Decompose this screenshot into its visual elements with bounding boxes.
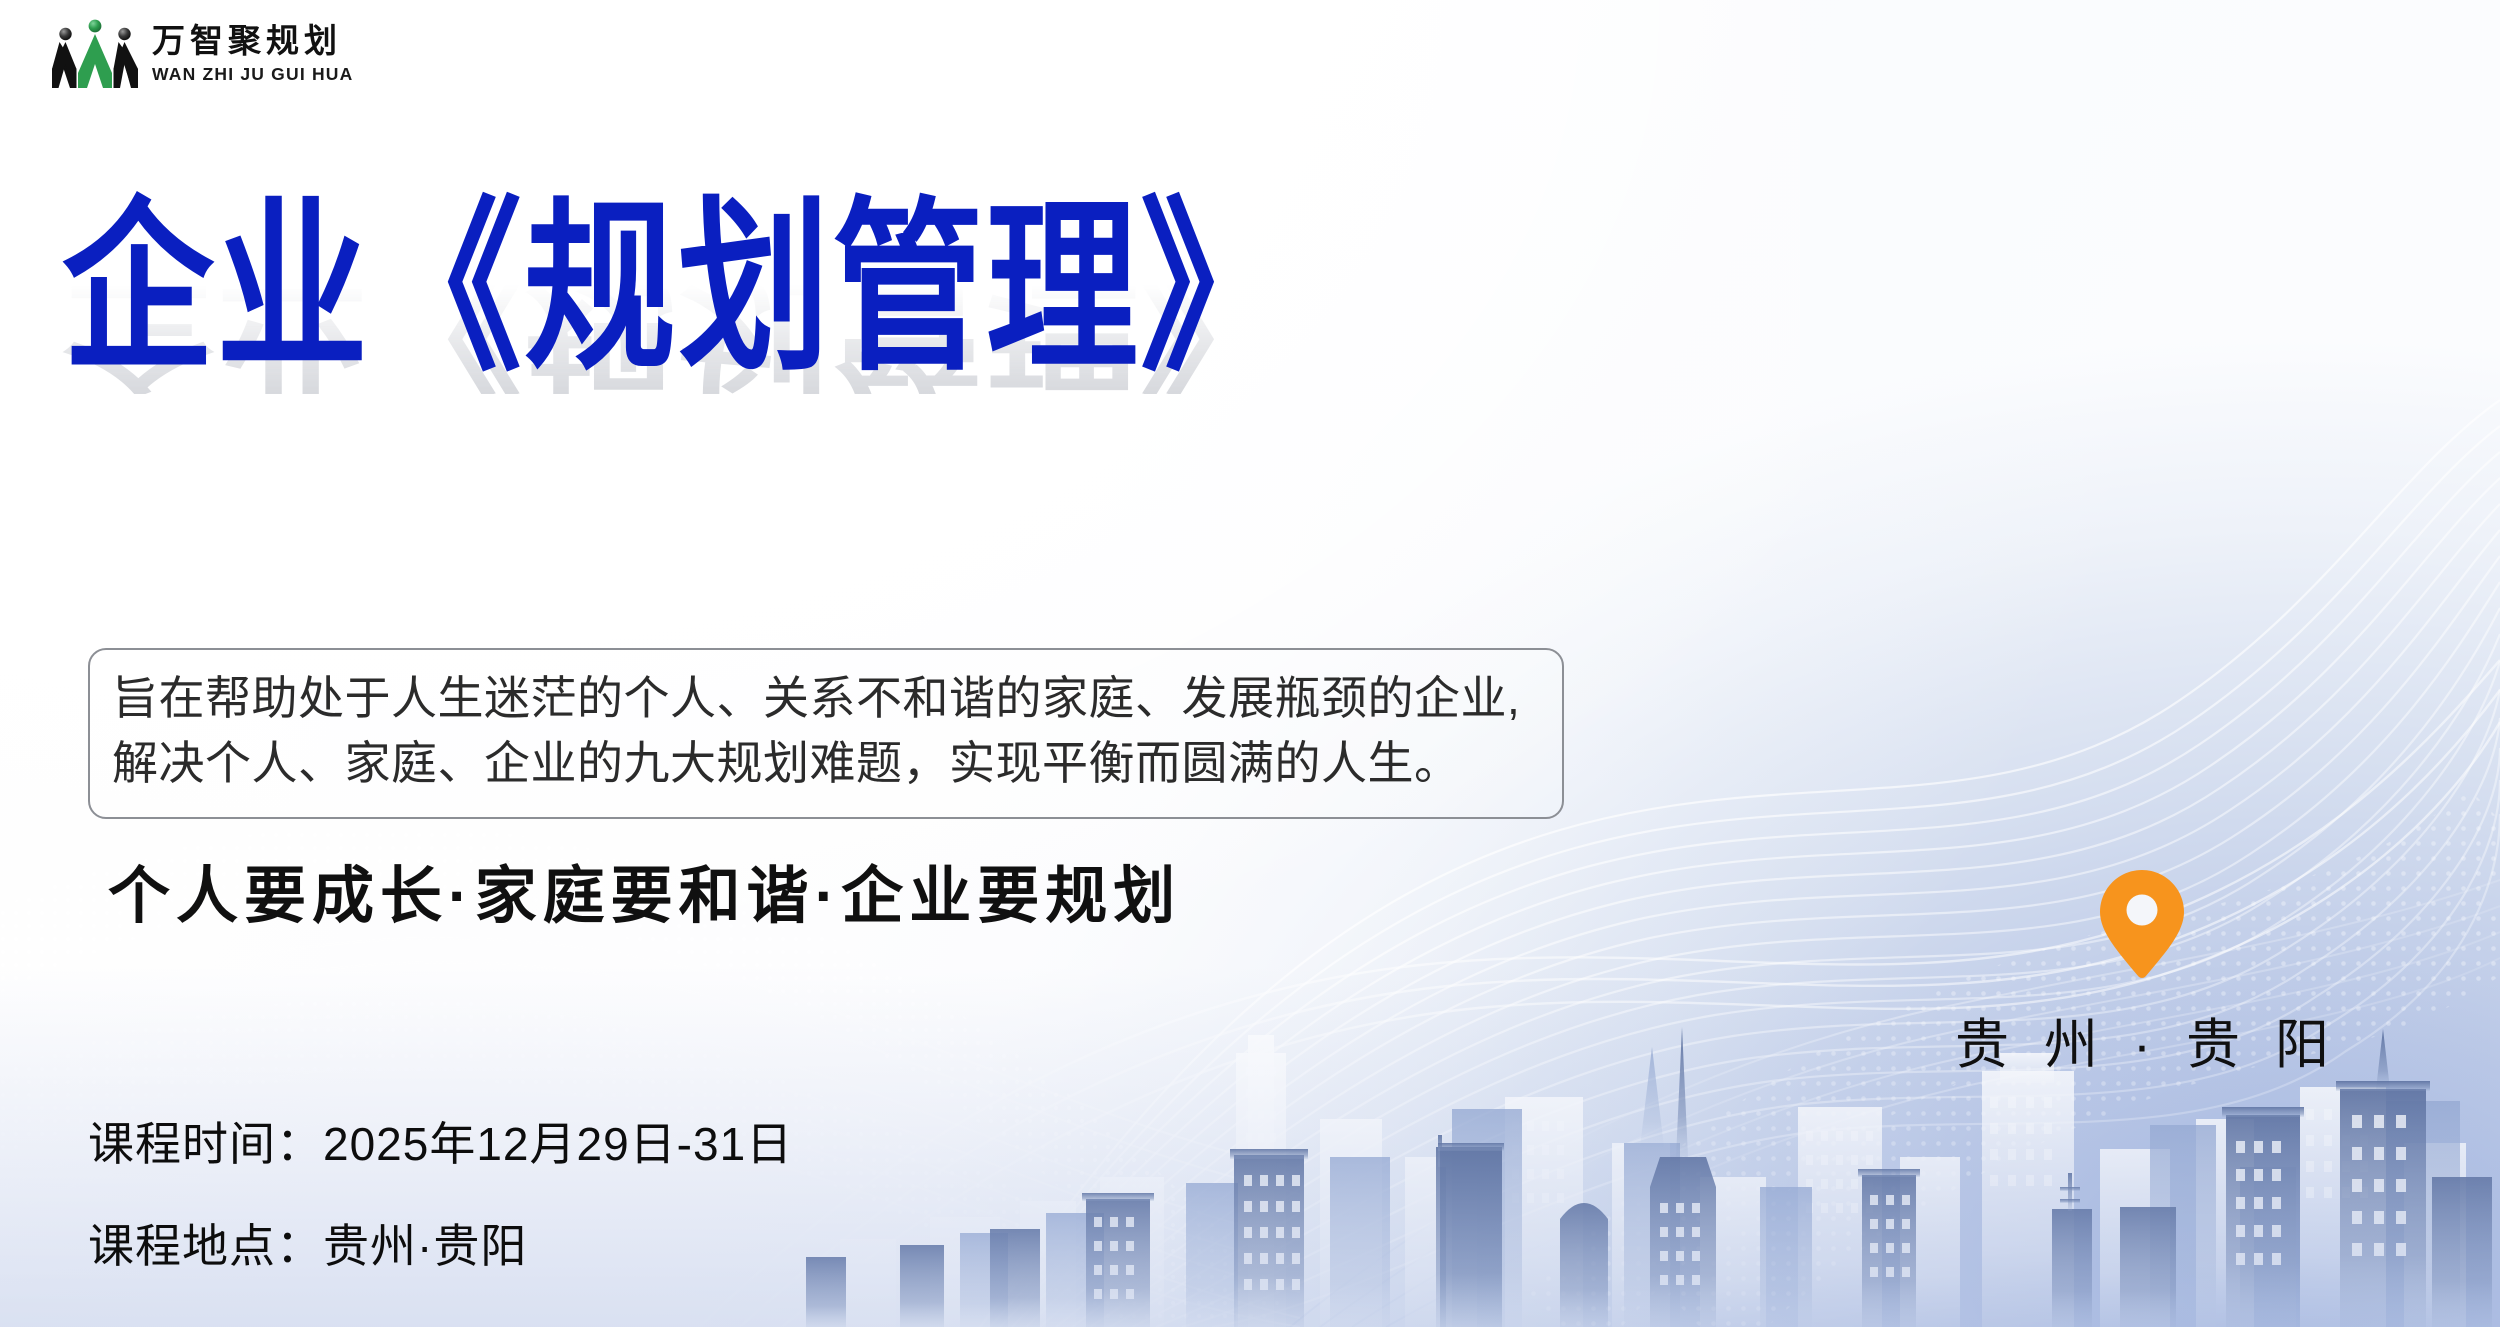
map-pin-icon [2096,868,2188,980]
location-badge: 贵 州 · 贵 阳 [1962,868,2322,1079]
course-place: 课程地点：贵州·贵阳 [88,1210,793,1276]
description-box: 旨在帮助处于人生迷茫的个人、关系不和谐的家庭、发展瓶颈的企业, 解决个人、家庭、… [88,648,1564,819]
promotional-banner: 万智聚规划 WAN ZHI JU GUI HUA 企业《规划管理》 企业《规划管… [0,0,2500,1327]
description-line-1: 旨在帮助处于人生迷茫的个人、关系不和谐的家庭、发展瓶颈的企业, [112,666,1540,731]
course-info: 课程时间：2025年12月29日-31日 课程地点：贵州·贵阳 [88,1108,793,1276]
brand-logo-text: 万智聚规划 WAN ZHI JU GUI HUA [152,25,353,85]
location-label: 贵 州 · 贵 阳 [1945,1000,2339,1079]
brand-name-cn: 万智聚规划 [152,25,353,61]
three-people-m-logo-icon [52,16,138,94]
hero-title-block: 企业《规划管理》 企业《规划管理》 [62,196,1662,526]
description-line-2: 解决个人、家庭、企业的九大规划难题，实现平衡而圆满的人生。 [112,731,1540,796]
tagline: 个人要成长·家庭要和谐·企业要规划 [108,845,1181,935]
brand-name-pinyin: WAN ZHI JU GUI HUA [152,64,353,85]
page-title: 企业《规划管理》 [62,196,1294,381]
brand-logo: 万智聚规划 WAN ZHI JU GUI HUA [52,16,353,94]
poster-content: 万智聚规划 WAN ZHI JU GUI HUA 企业《规划管理》 企业《规划管… [0,0,2500,1327]
course-time: 课程时间：2025年12月29日-31日 [88,1108,793,1174]
